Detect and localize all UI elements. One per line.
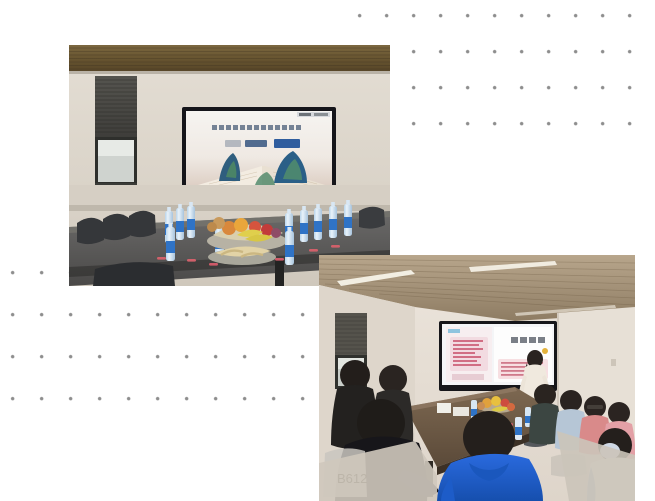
collage-canvas: B612	[0, 0, 655, 501]
photo-watermark: B612	[337, 471, 367, 486]
photo-meeting-room-audience-graphic: B612	[319, 255, 635, 501]
dot-grid-bottom-left	[10, 270, 306, 402]
photo-meeting-room-empty	[69, 45, 390, 286]
photo-meeting-room-empty-graphic	[69, 45, 390, 286]
photo-meeting-room-audience: B612	[319, 255, 635, 501]
dot-grid-top-right	[357, 13, 633, 127]
